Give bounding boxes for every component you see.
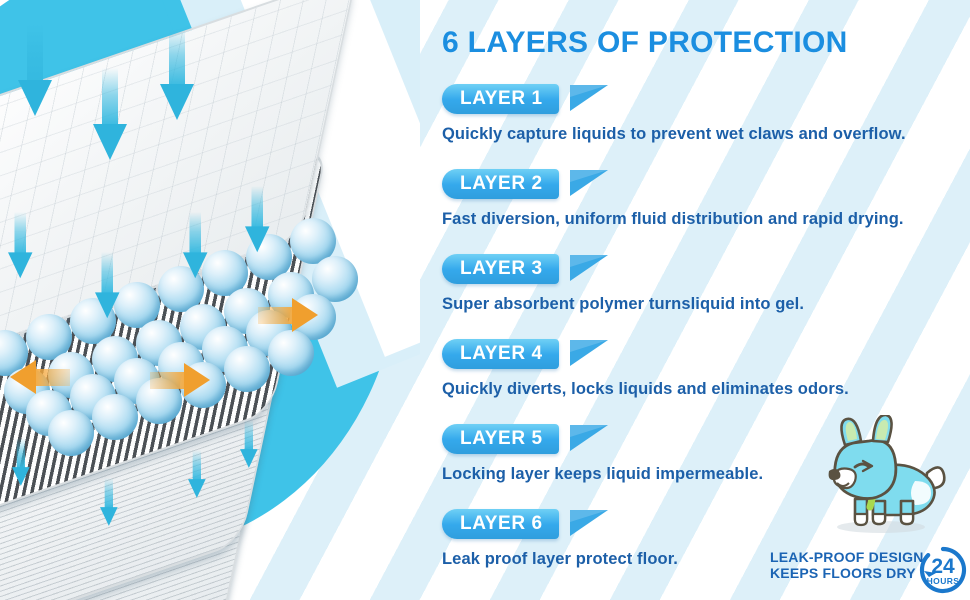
badge-ribbon-tail-icon bbox=[570, 85, 608, 111]
down-arrow-icon bbox=[183, 212, 207, 278]
layer-badge-row-4: LAYER 4 bbox=[442, 339, 962, 369]
layer-description-3: Super absorbent polymer turnsliquid into… bbox=[442, 295, 962, 314]
layer-description-2: Fast diversion, uniform fluid distributi… bbox=[442, 210, 962, 229]
tagline-line-2: KEEPS FLOORS DRY bbox=[770, 565, 924, 581]
badge-ribbon-tail-icon bbox=[570, 340, 608, 366]
down-arrow-icon bbox=[8, 212, 32, 278]
badge-ribbon-tail-icon bbox=[570, 170, 608, 196]
layer-badge-row-1: LAYER 1 bbox=[442, 84, 962, 114]
sap-bead bbox=[48, 410, 94, 456]
layer-badge-2[interactable]: LAYER 2 bbox=[442, 169, 559, 199]
layer-badge-3[interactable]: LAYER 3 bbox=[442, 254, 559, 284]
sap-bead bbox=[224, 346, 270, 392]
side-arrow-icon bbox=[10, 360, 70, 394]
page-title: 6 LAYERS OF PROTECTION bbox=[442, 26, 848, 60]
layer-badge-4[interactable]: LAYER 4 bbox=[442, 339, 559, 369]
pad-layers-illustration bbox=[0, 0, 420, 600]
layer-badge-6[interactable]: LAYER 6 bbox=[442, 509, 559, 539]
dog-icon bbox=[815, 415, 950, 535]
layer-item-3: LAYER 3 Super absorbent polymer turnsliq… bbox=[442, 254, 962, 314]
down-arrow-icon bbox=[18, 24, 52, 116]
sap-bead bbox=[268, 330, 314, 376]
layer-description-1: Quickly capture liquids to prevent wet c… bbox=[442, 125, 962, 144]
side-arrow-icon bbox=[150, 363, 210, 397]
badge-ribbon-tail-icon bbox=[570, 510, 608, 536]
down-arrow-icon bbox=[93, 68, 127, 160]
down-arrow-icon bbox=[100, 478, 118, 526]
down-arrow-icon bbox=[95, 252, 119, 318]
layer-item-1: LAYER 1 Quickly capture liquids to preve… bbox=[442, 84, 962, 144]
layer-badge-row-3: LAYER 3 bbox=[442, 254, 962, 284]
badge-number: 24 bbox=[931, 555, 955, 578]
side-arrow-icon bbox=[258, 298, 318, 332]
down-arrow-icon bbox=[188, 450, 206, 498]
layer-badge-row-2: LAYER 2 bbox=[442, 169, 962, 199]
layer-description-4: Quickly diverts, locks liquids and elimi… bbox=[442, 380, 962, 399]
infographic-canvas: 6 LAYERS OF PROTECTION LAYER 1 Quickly c… bbox=[0, 0, 970, 600]
badge-ribbon-tail-icon bbox=[570, 425, 608, 451]
down-arrow-icon bbox=[160, 28, 194, 120]
down-arrow-icon bbox=[12, 438, 30, 486]
layer-item-2: LAYER 2 Fast diversion, uniform fluid di… bbox=[442, 169, 962, 229]
tagline-line-1: LEAK-PROOF DESIGN bbox=[770, 549, 924, 565]
badge-unit: HOURS bbox=[927, 576, 960, 586]
footer-tagline: LEAK-PROOF DESIGN KEEPS FLOORS DRY bbox=[770, 549, 924, 581]
layer-item-4: LAYER 4 Quickly diverts, locks liquids a… bbox=[442, 339, 962, 399]
layers-panel: 6 LAYERS OF PROTECTION LAYER 1 Quickly c… bbox=[420, 0, 970, 600]
layer-badge-1[interactable]: LAYER 1 bbox=[442, 84, 559, 114]
down-arrow-icon bbox=[245, 186, 269, 252]
layer-badge-5[interactable]: LAYER 5 bbox=[442, 424, 559, 454]
down-arrow-icon bbox=[240, 420, 258, 468]
clock-24h-icon: 24 HOURS bbox=[918, 545, 968, 595]
badge-ribbon-tail-icon bbox=[570, 255, 608, 281]
sap-bead bbox=[92, 394, 138, 440]
